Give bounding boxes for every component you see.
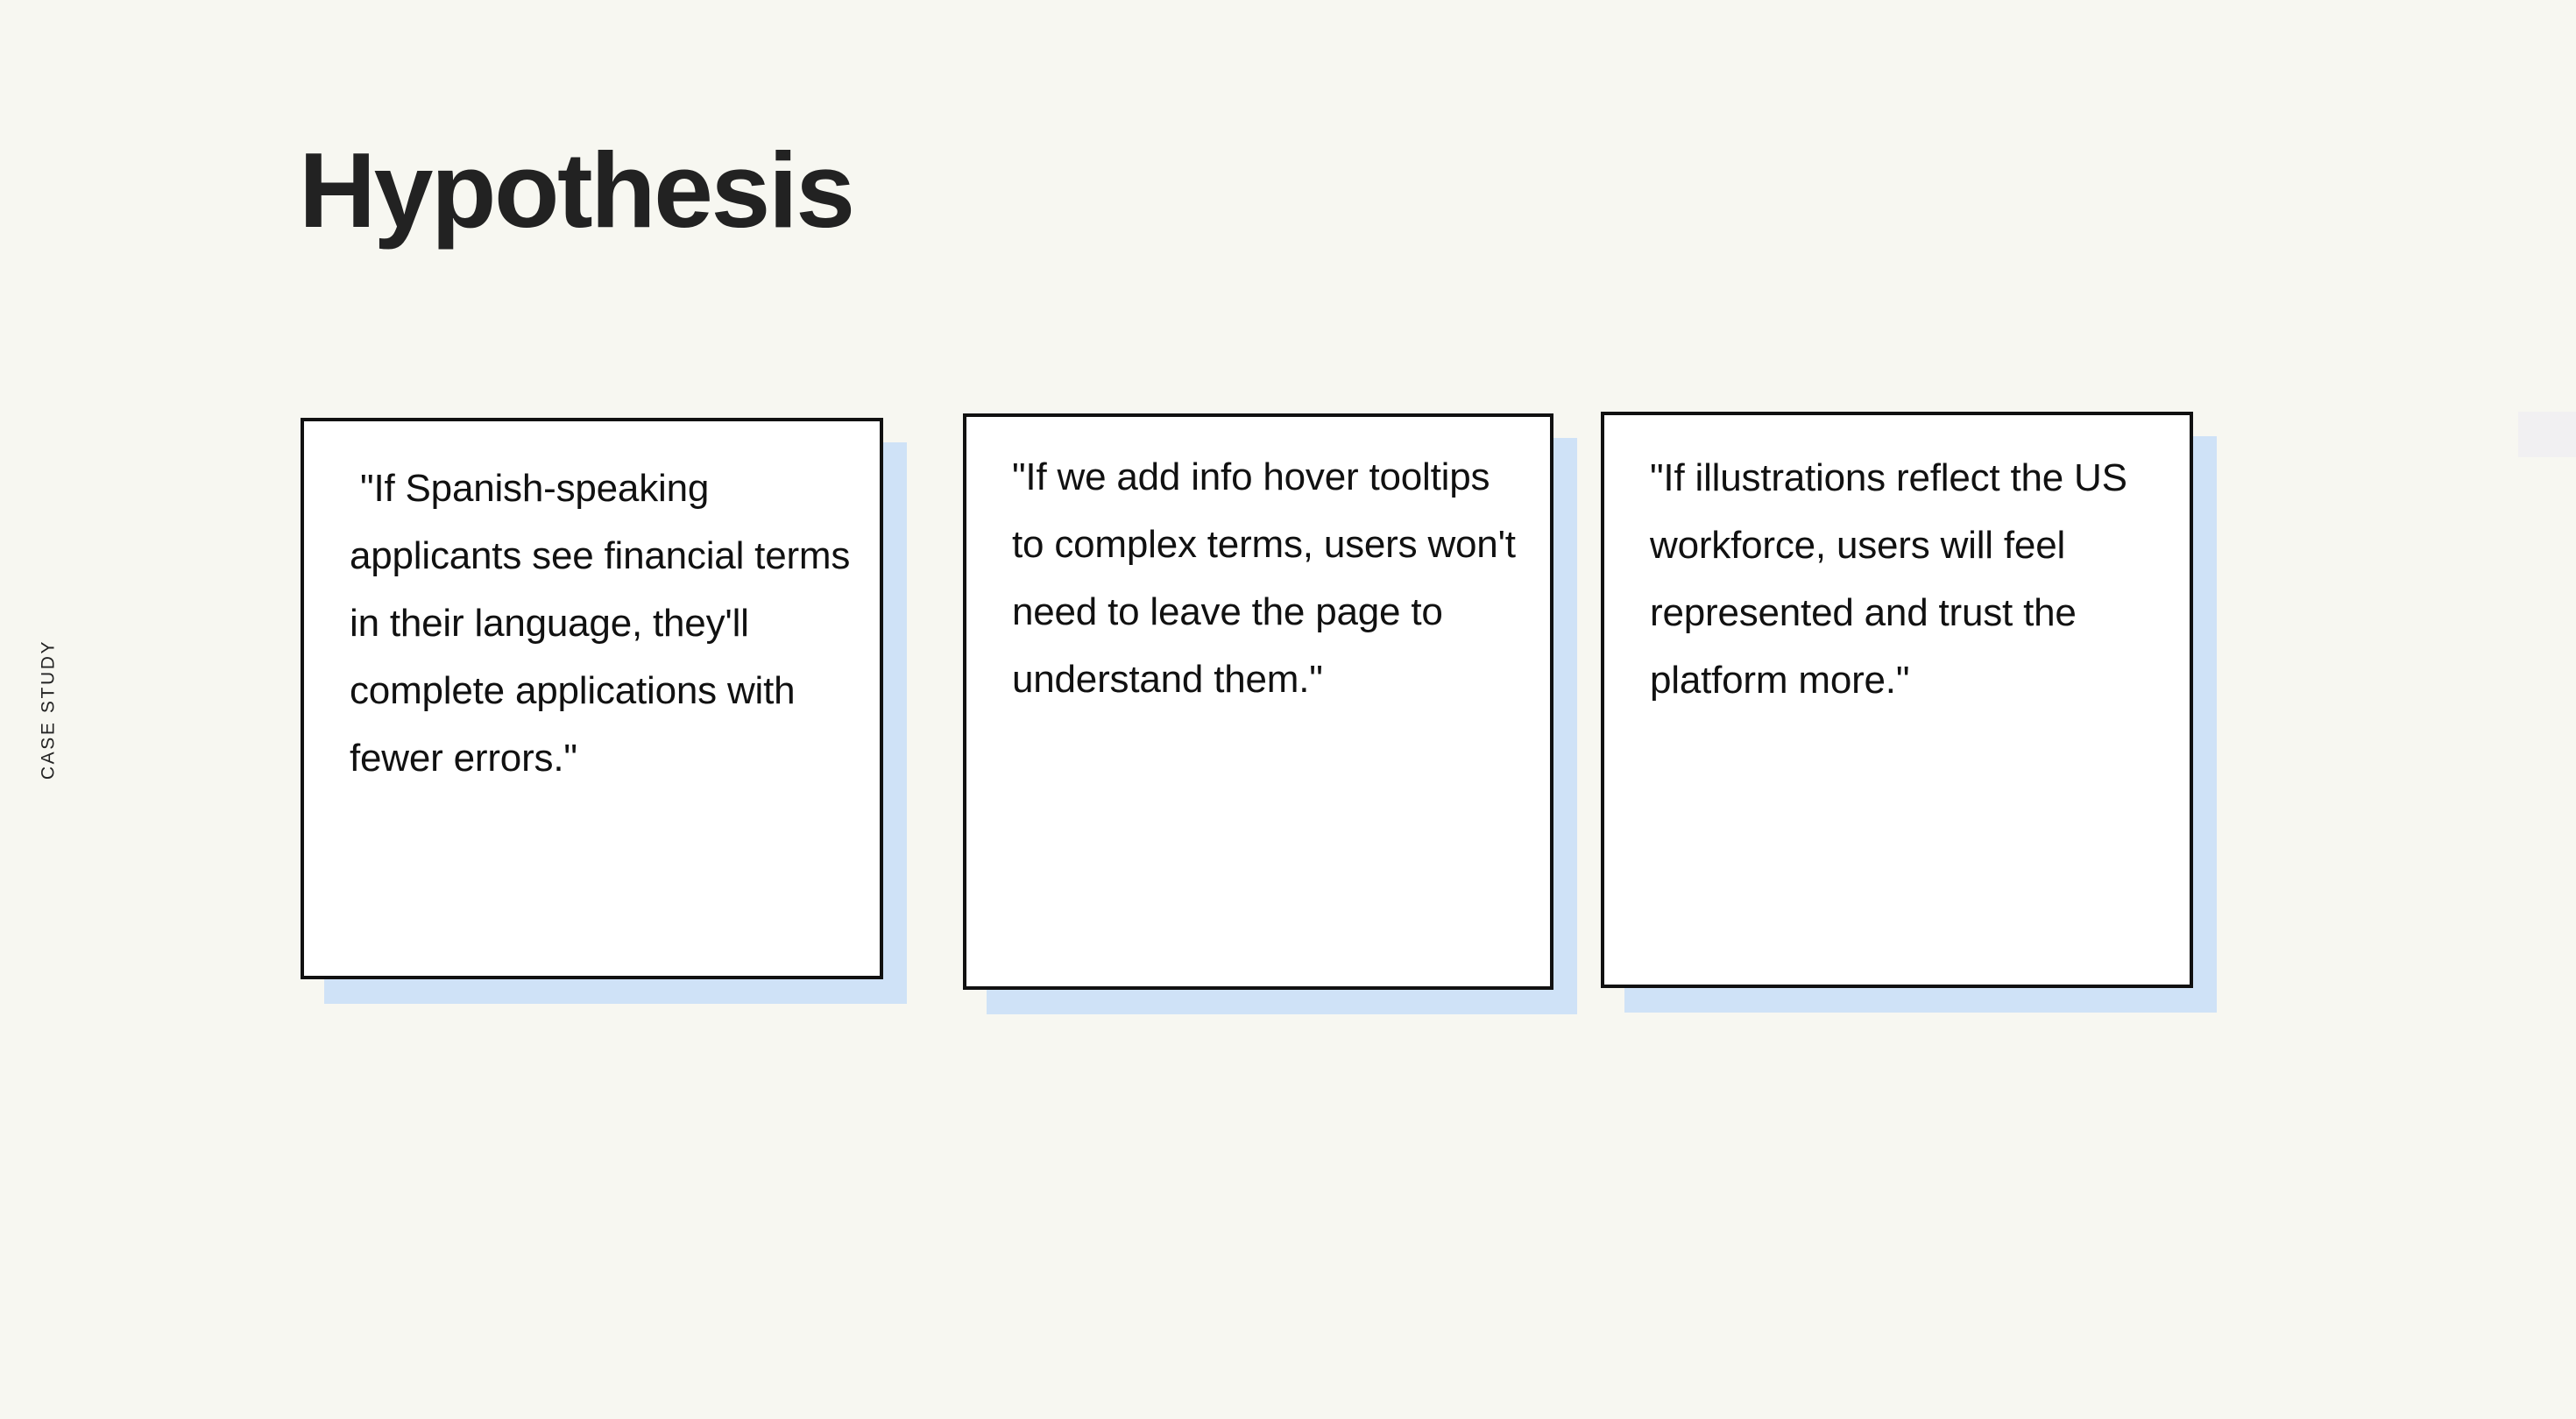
hypothesis-card-2: "If we add info hover tooltips to comple… xyxy=(963,413,1553,990)
case-study-side-label: CASE STUDY xyxy=(39,639,58,780)
slide-canvas: CASE STUDY Hypothesis "If Spanish-speaki… xyxy=(0,0,2576,1419)
hypothesis-card-1: "If Spanish-speaking applicants see fina… xyxy=(301,418,883,979)
page-title: Hypothesis xyxy=(299,133,853,249)
card-face-2: "If we add info hover tooltips to comple… xyxy=(963,413,1553,990)
right-edge-panel xyxy=(2518,412,2576,457)
hypothesis-card-3: "If illustrations reflect the US workfor… xyxy=(1601,412,2193,988)
card-face-3: "If illustrations reflect the US workfor… xyxy=(1601,412,2193,988)
card-face-1: "If Spanish-speaking applicants see fina… xyxy=(301,418,883,979)
hypothesis-text-1: "If Spanish-speaking applicants see fina… xyxy=(304,421,880,792)
hypothesis-text-2: "If we add info hover tooltips to comple… xyxy=(966,417,1550,713)
hypothesis-text-3: "If illustrations reflect the US workfor… xyxy=(1604,415,2190,714)
